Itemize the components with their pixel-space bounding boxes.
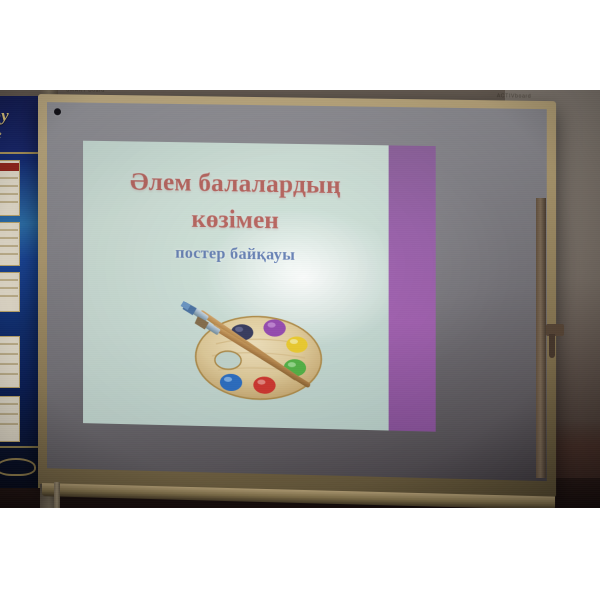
- poster-card-line: [0, 245, 18, 247]
- whiteboard-frame: SMART Board ACTIVboard Әлем балалардың к…: [38, 94, 556, 498]
- whiteboard[interactable]: SMART Board ACTIVboard Әлем балалардың к…: [38, 94, 556, 498]
- poster-title-text: ыру: [0, 106, 40, 126]
- poster-card-line: [0, 423, 18, 425]
- letterbox-bottom: [0, 508, 600, 600]
- poster-card-line: [0, 177, 18, 179]
- poster-card-line: [0, 295, 18, 297]
- poster-card-accent: [0, 163, 19, 171]
- poster-card-line: [0, 363, 18, 365]
- wall-mount-bracket: [546, 318, 568, 362]
- slide-title-line-2: көзімен: [93, 202, 378, 237]
- photograph: ыру де: [0, 90, 600, 508]
- board-branding-left-text: SMART Board: [66, 90, 105, 94]
- poster-subtitle-text: де: [0, 127, 2, 142]
- poster-card-line: [0, 413, 18, 415]
- poster-card: [0, 160, 20, 216]
- board-stand-leg: [54, 482, 60, 508]
- bracket-post: [536, 198, 546, 478]
- poster-footer: [0, 446, 40, 488]
- projected-slide: Әлем балалардың көзімен постер байқауы: [83, 141, 436, 432]
- magnet-dot-icon: [54, 108, 61, 115]
- poster-card: [0, 222, 20, 266]
- poster-card-line: [0, 287, 18, 289]
- poster-ornament-icon: [0, 458, 36, 476]
- poster-card-line: [0, 343, 18, 345]
- poster-card-line: [0, 185, 18, 187]
- poster-card-line: [0, 279, 18, 281]
- poster-card: [0, 396, 20, 442]
- slide-subtitle: постер байқауы: [93, 243, 378, 266]
- poster-card: [0, 272, 20, 312]
- whiteboard-surface[interactable]: Әлем балалардың көзімен постер байқауы: [47, 102, 547, 481]
- photo-canvas: ыру де: [0, 0, 600, 600]
- poster-card-line: [0, 201, 18, 203]
- poster-card-line: [0, 237, 18, 239]
- paint-palette-icon: [171, 293, 333, 419]
- poster-card-line: [0, 373, 18, 375]
- left-wall-poster: ыру де: [0, 96, 40, 488]
- slide-title-line-1: Әлем балалардың: [93, 167, 378, 201]
- poster-card: [0, 336, 20, 388]
- bracket-hook: [549, 334, 555, 358]
- poster-card-line: [0, 193, 18, 195]
- board-branding-right-text: ACTIVboard: [497, 93, 532, 100]
- poster-card-line: [0, 229, 18, 231]
- poster-card-line: [0, 253, 18, 255]
- slide-accent-bar: [389, 145, 436, 431]
- poster-card-line: [0, 403, 18, 405]
- poster-card-line: [0, 353, 18, 355]
- letterbox-top: [0, 0, 600, 90]
